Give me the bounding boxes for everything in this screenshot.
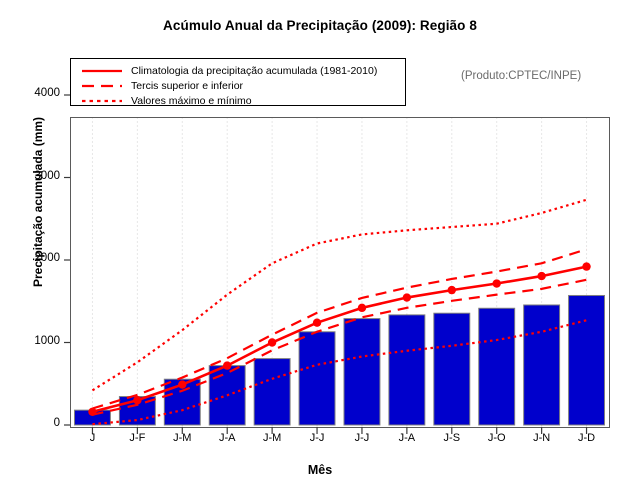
- y-tick-label: 2000: [14, 252, 60, 264]
- y-tick-label: 0: [14, 417, 60, 429]
- dotted-line-icon: [80, 94, 124, 108]
- legend-item-climatologia: Climatologia da precipitação acumulada (…: [71, 63, 407, 78]
- legend-label-climatologia: Climatologia da precipitação acumulada (…: [131, 65, 377, 77]
- legend-item-tercis: Tercis superior e inferior: [71, 78, 407, 93]
- legend-label-tercis: Tercis superior e inferior: [131, 80, 243, 92]
- y-tick-label: 3000: [14, 170, 60, 182]
- y-axis-ticks: [64, 95, 70, 425]
- y-tick-label: 1000: [14, 335, 60, 347]
- x-tick-label: J-D: [557, 432, 617, 444]
- legend: Climatologia da precipitação acumulada (…: [70, 58, 406, 106]
- legend-label-extremos: Valores máximo e mínimo: [131, 95, 252, 107]
- precipitation-chart: Acúmulo Anual da Precipitação (2009): Re…: [0, 0, 640, 500]
- solid-line-icon: [80, 64, 124, 78]
- y-tick-label: 4000: [14, 87, 60, 99]
- legend-item-extremos: Valores máximo e mínimo: [71, 93, 407, 108]
- dashed-line-icon: [80, 79, 124, 93]
- climatology-markers: [88, 262, 590, 416]
